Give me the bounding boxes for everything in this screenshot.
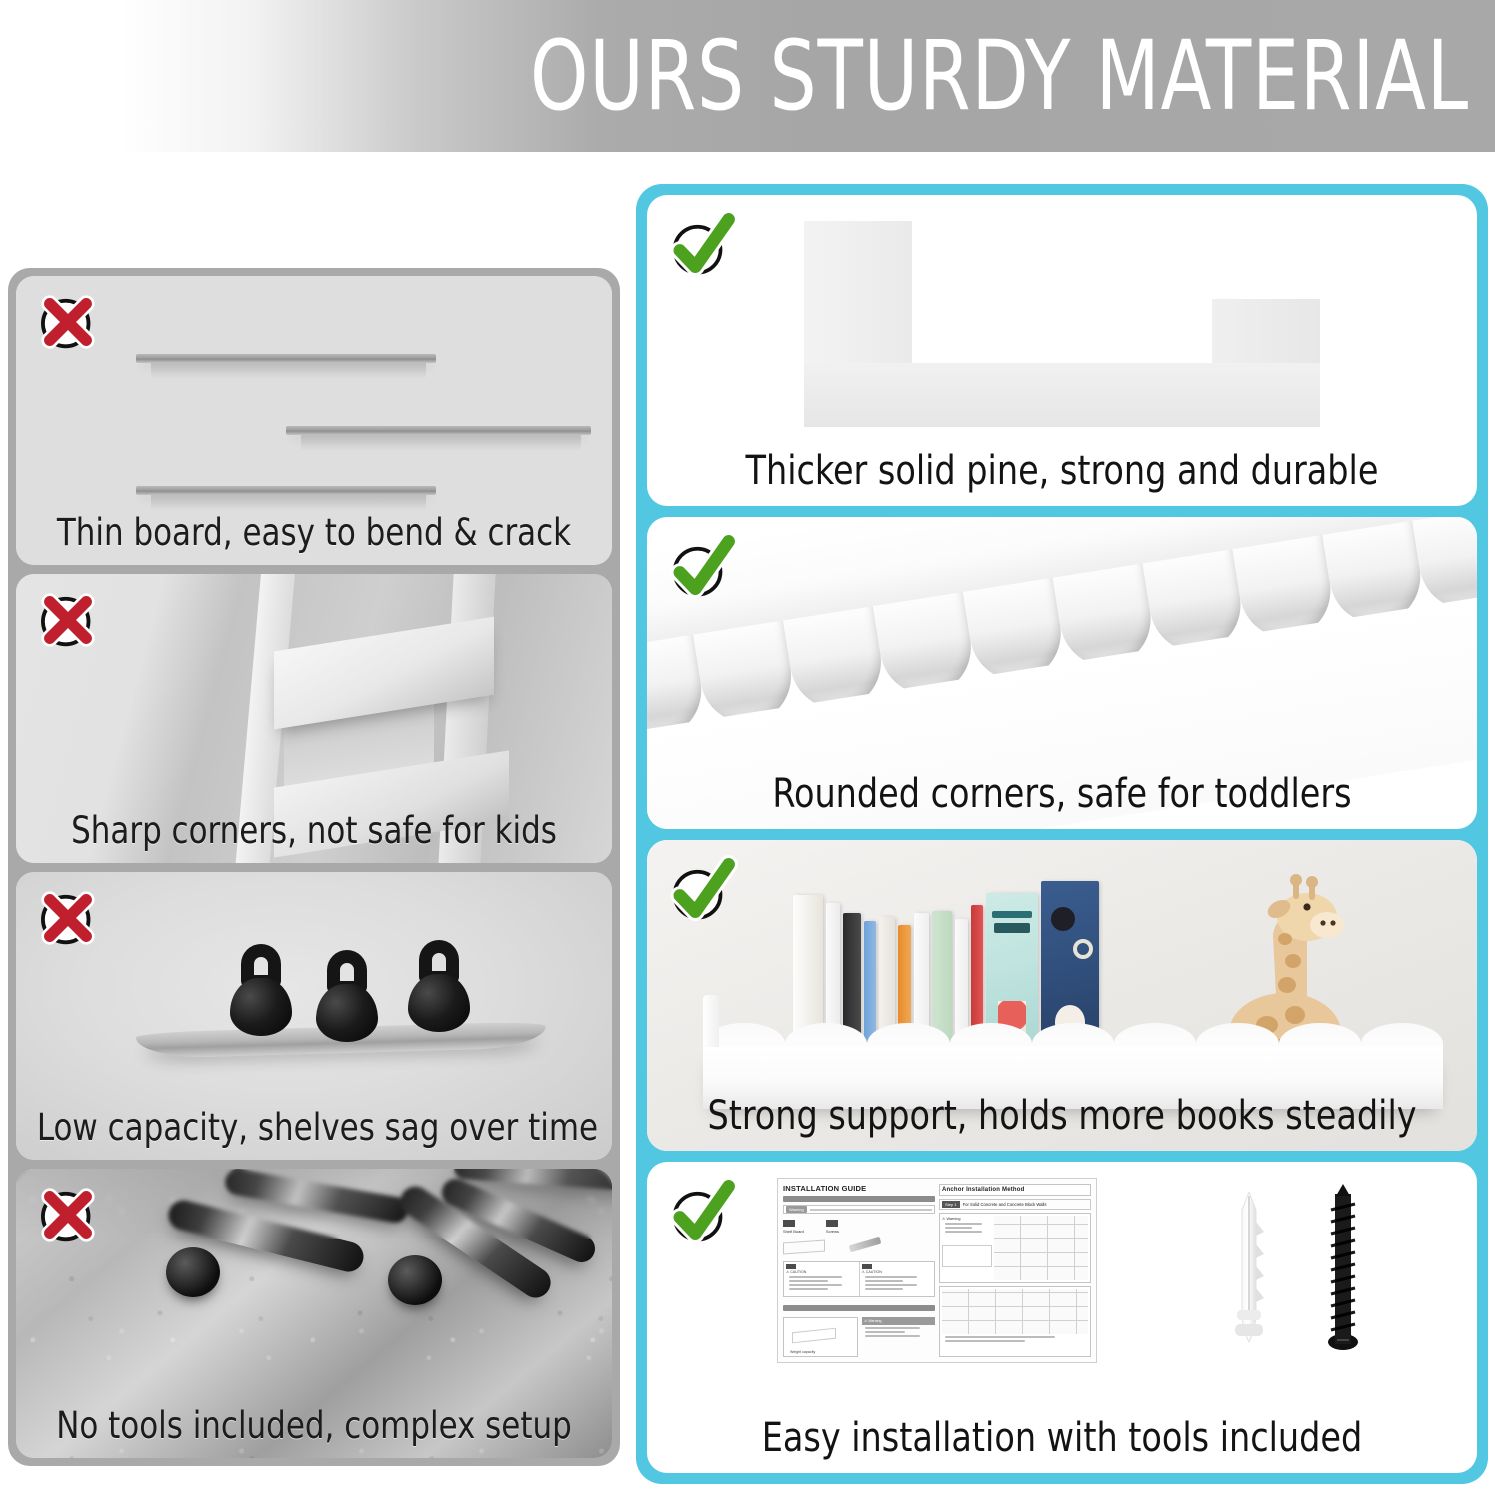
pro-caption: Thicker solid pine, strong and durable [676,450,1448,506]
guide-right-column: Anchor Installation Method Step 1 For So… [939,1184,1091,1357]
wood-screw-icon [1327,1184,1359,1356]
weight-note: Weight capacity [790,1350,815,1354]
pro-card-rounded-corners: Rounded corners, safe for toddlers [647,517,1477,828]
thin-shelf-board [136,354,436,363]
con-caption: Sharp corners, not safe for kids [37,812,591,863]
pro-card-easy-installation: INSTALLATION GUIDE Warning Shelf Board [647,1162,1477,1473]
step-text: For Solid Concrete and Concrete Block Wa… [963,1202,1047,1207]
pro-card-thicker-pine: Thicker solid pine, strong and durable [647,195,1477,506]
caution-label: CAUTION [866,1270,882,1274]
shelf-base [804,363,1320,427]
guide-banner [783,1196,935,1202]
guide-parts-row: Shelf Board Screws [783,1220,935,1234]
pro-card-strong-support: Strong support, holds more books steadil… [647,840,1477,1151]
wall-anchor-icon [1231,1192,1267,1347]
installation-guide-sheet: INSTALLATION GUIDE Warning Shelf Board [777,1178,1097,1363]
kettlebell-icon [228,944,294,1036]
con-card-low-capacity: Low capacity, shelves sag over time [16,872,612,1161]
green-check-icon [665,209,739,283]
cons-panel: Thin board, easy to bend & crack [8,268,620,1466]
guide-step-row: Step 1 For Solid Concrete and Concrete B… [939,1199,1091,1210]
kettlebell-icon [406,940,472,1032]
green-check-icon [665,1176,739,1250]
con-card-thin-board: Thin board, easy to bend & crack [16,276,612,565]
step-label: Step 1 [942,1201,960,1208]
kettlebell-icon [314,950,380,1042]
guide-banner-2 [783,1305,935,1310]
part-label: Screws [826,1229,839,1234]
header-banner: OURS STURDY MATERIAL [0,0,1495,152]
page-title: OURS STURDY MATERIAL [530,28,1495,124]
guide-caution-panel: ⚠ CAUTION ⚠ CAUTION [783,1261,935,1297]
screw-head [388,1255,442,1305]
guide-right-heading: Anchor Installation Method [942,1187,1088,1193]
thin-shelf-board [136,486,436,495]
pro-caption: Strong support, holds more books steadil… [676,1095,1448,1151]
guide-part-illustrations [783,1241,935,1253]
con-caption: Thin board, easy to bend & crack [37,514,591,565]
guide-footer-row: Weight capacity ⚠ Warning [783,1317,935,1357]
con-card-sharp-corners: Sharp corners, not safe for kids [16,574,612,863]
guide-left-heading: INSTALLATION GUIDE [783,1184,935,1193]
red-x-icon [30,582,106,658]
green-check-icon [665,854,739,928]
guide-brick-diagram-2 [939,1286,1091,1357]
pros-panel: Thicker solid pine, strong and durable [636,184,1488,1484]
shelf-shadow [151,363,426,379]
thin-shelf-board [286,426,591,435]
product-comparison-infographic: OURS STURDY MATERIAL [0,0,1495,1500]
u-shelf-profile [647,221,1477,431]
guide-brick-diagram-1: ⚠ Warning [939,1213,1091,1284]
red-x-icon [30,1177,106,1253]
shelf-shadow [151,495,426,511]
shelf-shadow [301,435,581,451]
con-caption: No tools included, complex setup [37,1407,591,1458]
pro-caption: Rounded corners, safe for toddlers [676,773,1448,829]
warning-label: Warning [786,1206,807,1213]
part-label: Shelf Board [783,1229,804,1234]
brick-wall-illustration [994,1216,1088,1281]
red-x-icon [30,880,106,956]
red-x-icon [30,284,106,360]
con-card-no-tools: No tools included, complex setup [16,1169,612,1458]
screw-head [166,1247,220,1297]
green-check-icon [665,531,739,605]
guide-warning-row: Warning [783,1205,935,1214]
pro-caption: Easy installation with tools included [676,1417,1448,1473]
con-caption: Low capacity, shelves sag over time [37,1109,591,1160]
caution-label: CAUTION [790,1270,806,1274]
guide-left-column: INSTALLATION GUIDE Warning Shelf Board [783,1184,935,1357]
